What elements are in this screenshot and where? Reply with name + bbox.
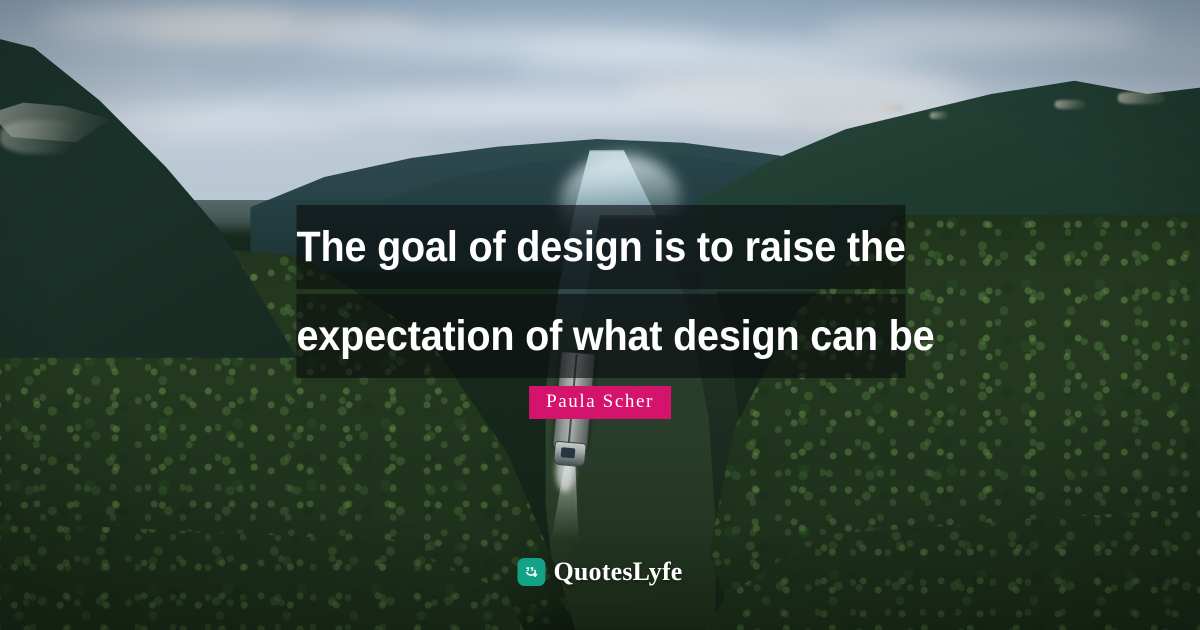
- quote-card: The goal of design is to raise the expec…: [0, 0, 1200, 630]
- quote-mark-icon: [517, 558, 545, 586]
- quote-line-2: expectation of what design can be: [296, 294, 905, 378]
- rock-outcrop: [1055, 100, 1085, 109]
- cloud: [190, 58, 520, 86]
- quote-line-1: The goal of design is to raise the: [296, 205, 905, 289]
- brand-name: QuotesLyfe: [553, 559, 682, 585]
- author-badge[interactable]: Paula Scher: [529, 386, 671, 419]
- cliff-rock-face: [0, 120, 86, 154]
- brand-logo[interactable]: QuotesLyfe: [517, 558, 682, 586]
- quote-block: The goal of design is to raise the expec…: [270, 205, 932, 378]
- rock-outcrop: [930, 112, 948, 119]
- cloud: [520, 44, 920, 68]
- barge-cabin: [561, 447, 576, 458]
- rock-outcrop: [880, 104, 904, 112]
- rock-outcrop: [1118, 92, 1164, 104]
- cloud: [820, 16, 1150, 46]
